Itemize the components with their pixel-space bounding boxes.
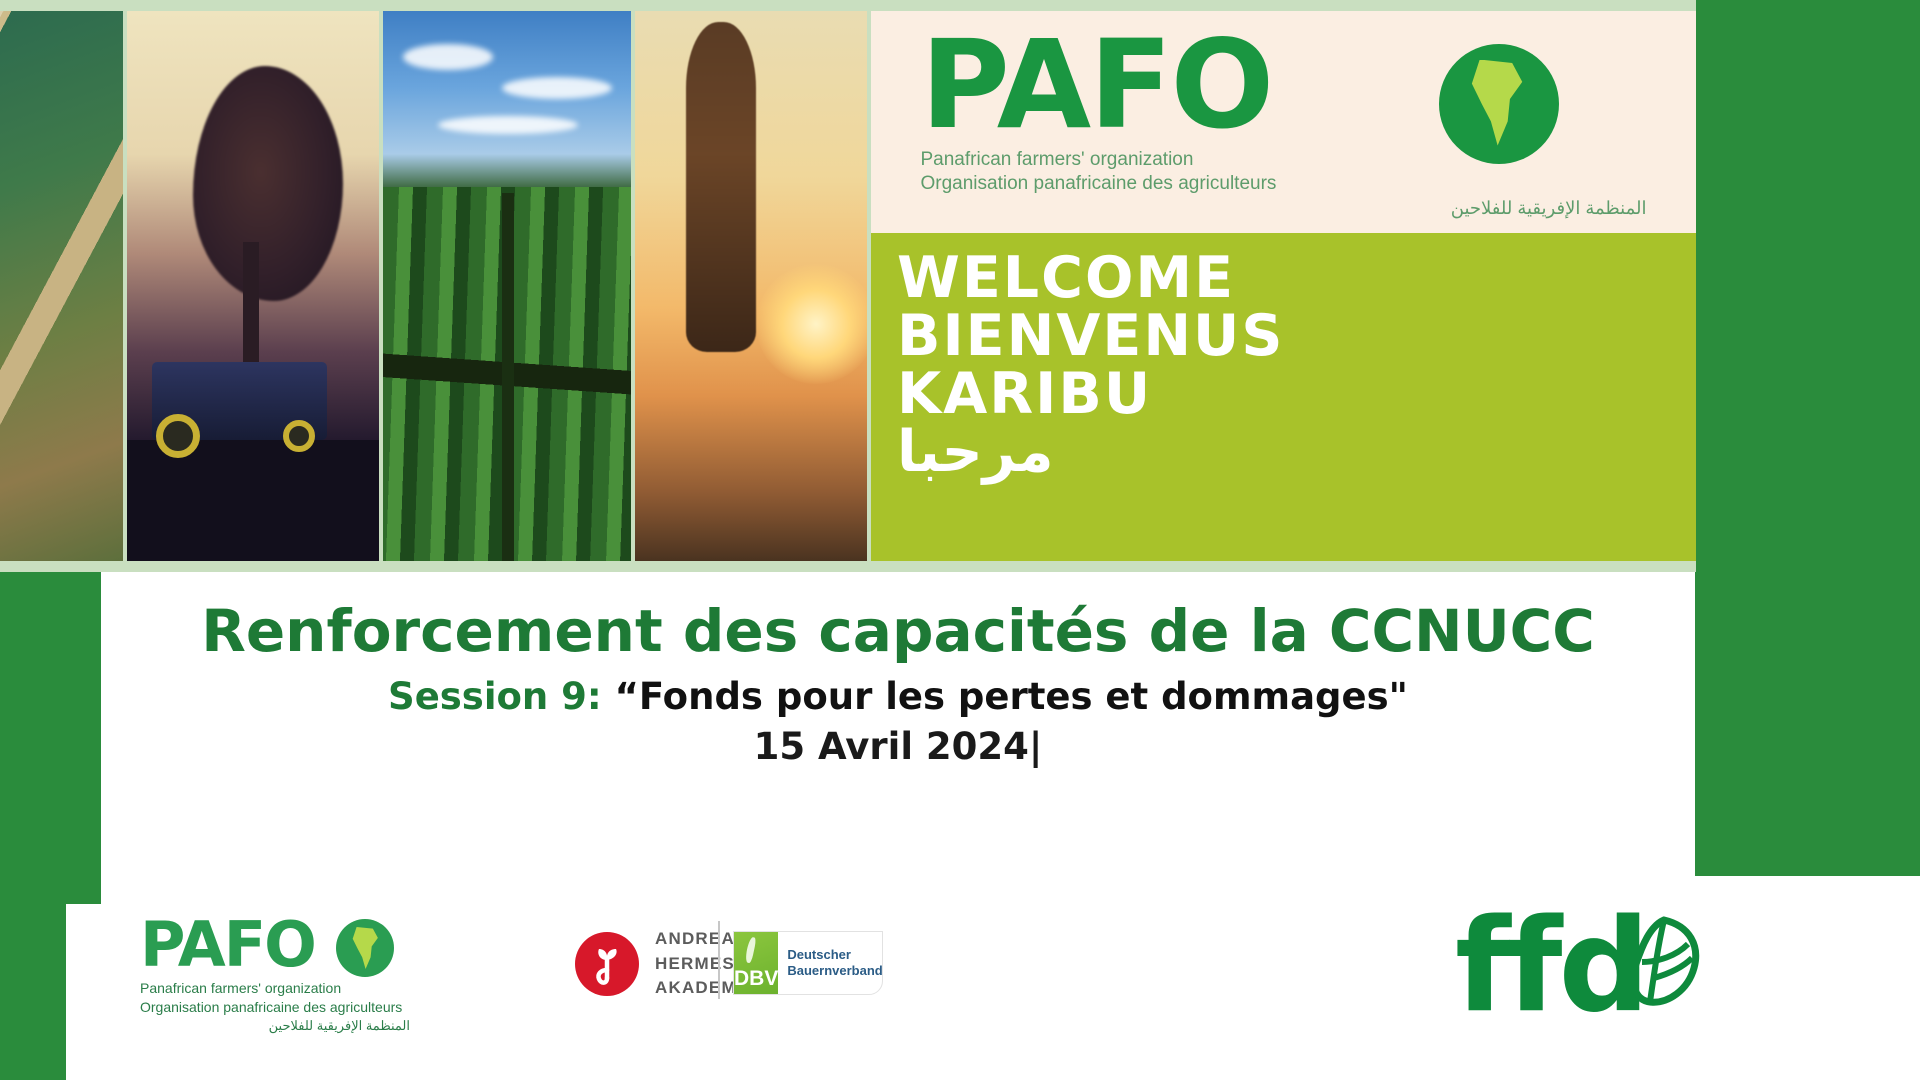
- dbv-abbr: DBV: [734, 932, 778, 994]
- africa-map-icon: [336, 919, 394, 977]
- footer-logo-row: PAFO Panafrican farmers' organization Or…: [0, 895, 1920, 1080]
- dbv-line-2: Bauernverband: [787, 963, 882, 979]
- session-label: Session 9:: [388, 675, 602, 718]
- welcome-line-en: WELCOME: [897, 249, 1696, 307]
- photo-tree-and-tractor-at-dusk: [127, 11, 379, 561]
- ffd-logo: ffd: [1455, 903, 1702, 1031]
- photo-wheat-ear-at-sunset: [635, 11, 867, 561]
- pafo-footer-tagline-ar: المنظمة الإفريقية للفلاحين: [140, 1017, 410, 1035]
- tree-trunk-shape: [243, 242, 259, 362]
- title-block: Renforcement des capacités de la CCNUCC …: [101, 600, 1695, 770]
- leaf-icon: [1628, 916, 1702, 1008]
- photo-crop-rows-under-sky: [383, 11, 631, 561]
- wheat-ear-shape: [686, 22, 756, 352]
- session-date: 15 Avril 2024|: [101, 724, 1695, 770]
- session-subtitle: Session 9: “Fonds pour les pertes et dom…: [101, 674, 1695, 720]
- dbv-wordmark: Deutscher Bauernverband: [778, 932, 882, 994]
- pafo-branding-panel: PAFO Panafrican farmers' organization Or…: [871, 11, 1696, 561]
- logo-divider: [718, 921, 720, 999]
- welcome-banner: WELCOME BIENVENUS KARIBU مرحبا: [871, 233, 1696, 561]
- sun-glow-shape: [756, 264, 867, 384]
- right-accent-bar: [1695, 0, 1920, 876]
- pafo-footer-tagline-en: Panafrican farmers' organization: [140, 979, 410, 998]
- deutscher-bauernverband-logo: DBV Deutscher Bauernverband: [733, 931, 883, 995]
- pafo-footer-tagline-fr: Organisation panafricaine des agriculteu…: [140, 998, 410, 1017]
- cloud-shape: [438, 116, 578, 134]
- tractor-shape: [152, 362, 327, 440]
- session-topic: “Fonds pour les pertes et dommages": [615, 675, 1408, 718]
- sprout-icon: [575, 932, 639, 996]
- welcome-line-sw: KARIBU: [897, 365, 1696, 423]
- pafo-footer-taglines: Panafrican farmers' organization Organis…: [140, 979, 410, 1034]
- pafo-tagline-ar: المنظمة الإفريقية للفلاحين: [921, 197, 1647, 220]
- pafo-logo-footer: PAFO Panafrican farmers' organization Or…: [140, 917, 410, 1034]
- dbv-line-1: Deutscher: [787, 947, 882, 963]
- presentation-slide: PAFO Panafrican farmers' organization Or…: [0, 0, 1920, 1080]
- andreas-hermes-akademie-logo: ANDREAS HERMES AKADEMIE: [575, 927, 755, 1001]
- pafo-tagline-en: Panafrican farmers' organization: [921, 148, 1647, 172]
- welcome-line-fr: BIENVENUS: [897, 307, 1696, 365]
- pafo-tagline-fr: Organisation panafricaine des agriculteu…: [921, 172, 1647, 196]
- left-accent-bar-upper: [0, 572, 101, 904]
- tree-shape: [193, 66, 343, 301]
- furrow-shape: [502, 193, 514, 562]
- africa-map-icon: [1439, 44, 1559, 164]
- field-ground-shape: [127, 440, 379, 561]
- page-title: Renforcement des capacités de la CCNUCC: [101, 600, 1695, 664]
- welcome-line-ar: مرحبا: [897, 423, 1696, 481]
- pafo-logo-large: PAFO Panafrican farmers' organization Or…: [921, 28, 1647, 220]
- header-banner: PAFO Panafrican farmers' organization Or…: [0, 0, 1696, 572]
- cloud-shape: [403, 44, 493, 70]
- pafo-tagline-block: Panafrican farmers' organization Organis…: [921, 148, 1647, 220]
- ffd-wordmark: ffd: [1455, 903, 1646, 1031]
- cloud-shape: [502, 77, 612, 99]
- photo-aerial-farmland: [0, 11, 123, 561]
